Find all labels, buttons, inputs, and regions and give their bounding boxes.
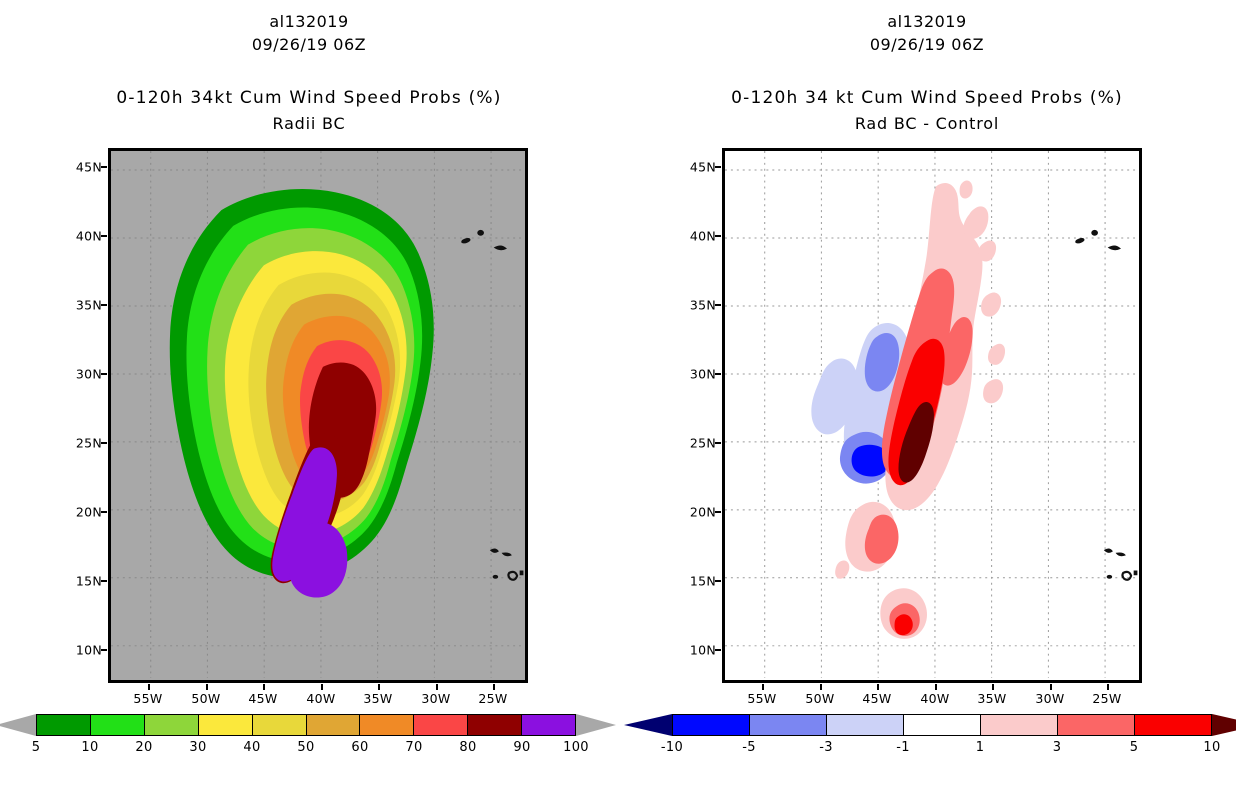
colorbar-tick-label: 90 [513,740,530,755]
colorbar-band [414,715,468,735]
x-tick-mark [148,684,150,690]
x-tick-mark [263,684,265,690]
panel-radii-bc: al132019 09/26/19 06Z 0-120h 34kt Cum Wi… [0,0,618,800]
y-tick-mark [101,166,107,168]
colorbar-tick-label: -1 [896,740,910,755]
storm-id-label-right: al132019 [618,12,1236,31]
colorbar-band [468,715,522,735]
colorbar-tick-label: 40 [243,740,260,755]
colorbar-radii-bc[interactable]: 5 10 20 30 40 50 60 70 80 90 100 [36,714,576,774]
colorbar-tick-label: -3 [819,740,833,755]
datetime-label-left: 09/26/19 06Z [0,35,618,54]
y-tick-mark [101,511,107,513]
y-tick-mark [715,580,721,582]
y-tick-label: 45N [676,160,716,175]
x-tick-mark [877,684,879,690]
y-tick-label: 15N [676,574,716,589]
colorbar-tick-label: 3 [1053,740,1062,755]
colorbar-tick-label: 1 [976,740,985,755]
x-tick-mark [820,684,822,690]
panel-subtitle-left: Radii BC [0,114,618,133]
y-tick-mark [101,649,107,651]
panel-rad-bc-control: al132019 09/26/19 06Z 0-120h 34 kt Cum W… [618,0,1236,800]
colorbar-band [1135,715,1211,735]
colorbar-tick-label: 50 [297,740,314,755]
colorbar-tick-label: -5 [742,740,756,755]
colorbar-band [253,715,307,735]
colorbar-band [827,715,904,735]
x-tick-mark [378,684,380,690]
x-tick-label: 50W [191,691,220,706]
colorbar-high-cap-icon [1212,714,1236,736]
y-tick-mark [715,442,721,444]
x-tick-label: 40W [306,691,335,706]
colorbar-band [750,715,827,735]
y-tick-mark [715,166,721,168]
y-tick-label: 30N [676,367,716,382]
y-tick-label: 20N [676,505,716,520]
y-tick-label: 15N [62,574,102,589]
x-tick-label: 25W [478,691,507,706]
colorbar-band [91,715,145,735]
y-tick-label: 35N [62,298,102,313]
colorbar-low-cap-icon [0,714,36,736]
x-tick-label: 45W [862,691,891,706]
y-tick-mark [715,235,721,237]
map-plot-rad-bc-control[interactable] [722,148,1142,683]
colorbar-band [904,715,981,735]
colorbar-band [1058,715,1135,735]
colorbar-band [199,715,253,735]
y-tick-mark [101,442,107,444]
panel-subtitle-right: Rad BC - Control [618,114,1236,133]
y-tick-label: 45N [62,160,102,175]
colorbar-tick-label: 80 [459,740,476,755]
y-tick-mark [715,304,721,306]
colorbar-band [307,715,361,735]
y-tick-label: 40N [676,229,716,244]
datetime-label-right: 09/26/19 06Z [618,35,1236,54]
y-tick-label: 25N [62,436,102,451]
y-tick-mark [101,373,107,375]
colorbar-band [145,715,199,735]
colorbar-tick-label: 70 [405,740,422,755]
colorbar-band [360,715,414,735]
colorbar-tick-label: -10 [661,740,683,755]
colorbar-tick-label: 5 [1130,740,1139,755]
colorbar-tick-label: 20 [135,740,152,755]
x-tick-mark [992,684,994,690]
x-tick-label: 35W [977,691,1006,706]
storm-id-label-left: al132019 [0,12,618,31]
x-tick-label: 25W [1092,691,1121,706]
x-tick-label: 55W [133,691,162,706]
colorbar-low-cap-icon [624,714,672,736]
colorbar-band [673,715,750,735]
colorbar-band [522,715,575,735]
map-contours-right [725,151,1139,678]
y-tick-mark [715,511,721,513]
y-tick-mark [715,373,721,375]
colorbar-tick-label: 10 [81,740,98,755]
x-tick-label: 30W [421,691,450,706]
colorbar-band [981,715,1058,735]
colorbar-bands-right [672,714,1212,736]
x-tick-mark [1107,684,1109,690]
x-tick-mark [762,684,764,690]
x-tick-label: 45W [248,691,277,706]
x-tick-mark [436,684,438,690]
colorbar-tick-label: 5 [32,740,41,755]
x-tick-mark [1050,684,1052,690]
y-tick-mark [101,580,107,582]
colorbar-tick-label: 10 [1203,740,1220,755]
figure-root: al132019 09/26/19 06Z 0-120h 34kt Cum Wi… [0,0,1236,800]
map-plot-radii-bc[interactable] [108,148,528,683]
x-tick-mark [321,684,323,690]
y-tick-label: 10N [62,643,102,658]
y-tick-label: 20N [62,505,102,520]
y-tick-mark [101,304,107,306]
colorbar-bands-left [36,714,576,736]
y-tick-label: 10N [676,643,716,658]
y-tick-label: 40N [62,229,102,244]
panel-title-right: 0-120h 34 kt Cum Wind Speed Probs (%) [618,88,1236,108]
colorbar-high-cap-icon [576,714,616,736]
map-contours-left [111,151,525,678]
y-tick-mark [101,235,107,237]
colorbar-tick-label: 100 [563,740,589,755]
colorbar-tick-label: 60 [351,740,368,755]
panel-title-left: 0-120h 34kt Cum Wind Speed Probs (%) [0,88,618,108]
x-tick-label: 55W [747,691,776,706]
colorbar-tick-label: 30 [189,740,206,755]
x-tick-label: 35W [363,691,392,706]
colorbar-band [37,715,91,735]
x-tick-mark [493,684,495,690]
x-tick-mark [206,684,208,690]
y-tick-label: 25N [676,436,716,451]
colorbar-rad-bc-control[interactable]: -10 -5 -3 -1 1 3 5 10 [672,714,1212,774]
x-tick-label: 40W [920,691,949,706]
x-tick-label: 50W [805,691,834,706]
y-tick-mark [715,649,721,651]
y-tick-label: 35N [676,298,716,313]
x-tick-label: 30W [1035,691,1064,706]
x-tick-mark [935,684,937,690]
y-tick-label: 30N [62,367,102,382]
